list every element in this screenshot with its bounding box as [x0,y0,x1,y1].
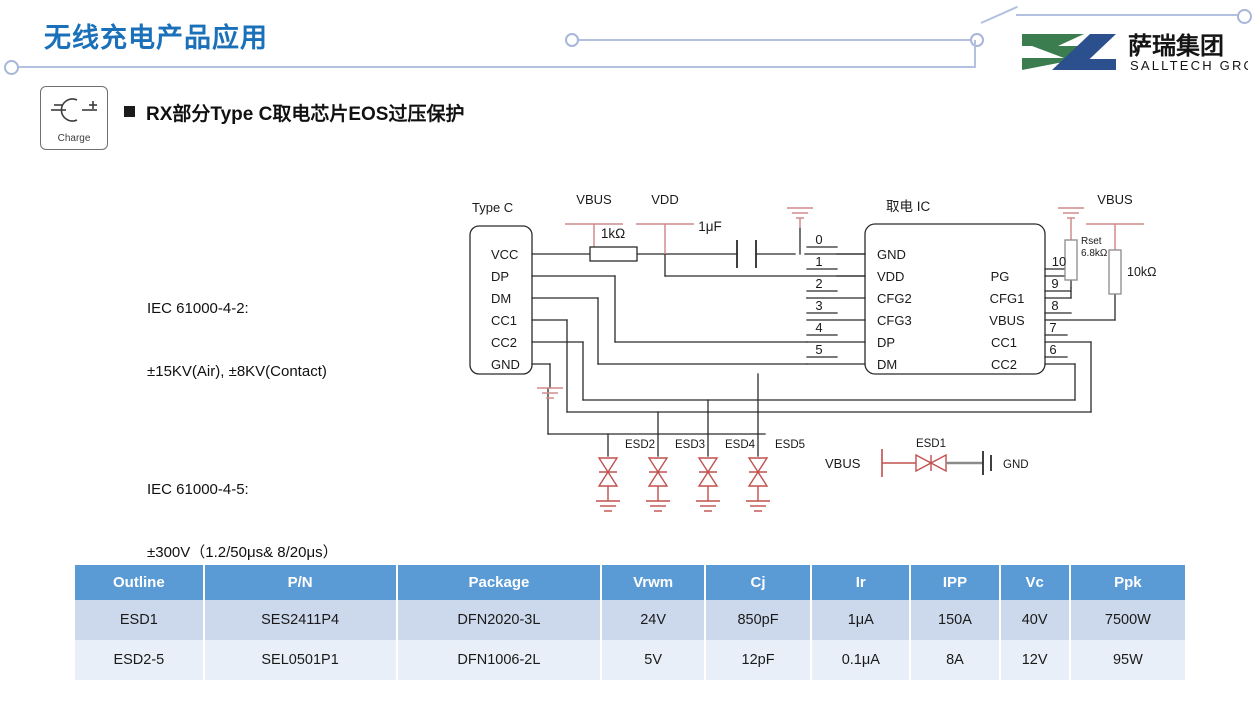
ic-pin-gnd: GND [877,247,906,262]
cell-ppk: 95W [1070,640,1185,680]
pin-number-9: 9 [1051,276,1058,291]
cell-pn: SEL0501P1 [204,640,397,680]
header-deco-node-top-right [1237,9,1252,24]
ic-pin-cfg2: CFG2 [877,291,912,306]
cell-package: DFN2020-3L [397,600,602,640]
schematic-svg: Type C 取电 IC VCC DP DM CC1 CC2 GND GND V… [455,176,1170,521]
connector-pin-vcc: VCC [491,247,518,262]
esd-label-esd3: ESD3 [675,439,705,451]
connector-pin-dm: DM [491,291,511,306]
column-header-vc: Vc [1000,565,1070,600]
ic-pin-cfg3: CFG3 [877,313,912,328]
pin-number-6: 6 [1049,342,1056,357]
iec-spec-block: IEC 61000-4-2: ±15KV(Air), ±8KV(Contact)… [147,256,338,584]
column-header-ir: Ir [811,565,910,600]
cell-package: DFN1006-2L [397,640,602,680]
svg-text:萨瑞集团: 萨瑞集团 [1128,32,1224,60]
value-rset-name: Rset [1081,236,1102,247]
esd-label-esd1: ESD1 [916,438,946,450]
circuit-schematic: Type C 取电 IC VCC DP DM CC1 CC2 GND GND V… [455,176,1170,521]
cell-outline: ESD1 [75,600,204,640]
table-row: ESD2-5 SEL0501P1 DFN1006-2L 5V 12pF 0.1μ… [75,640,1185,680]
header-deco-node-right-mid [970,33,984,47]
esd2-diode [596,458,620,511]
ic-pin-vdd: VDD [877,269,904,284]
cell-ipp: 8A [910,640,999,680]
ic-pin-pg: PG [991,269,1010,284]
pin-number-4: 4 [815,320,822,335]
pin-number-7: 7 [1049,320,1056,335]
connector-pin-gnd: GND [491,357,520,372]
charge-icon-label: Charge [41,133,107,144]
resistor-rset-symbol [1065,240,1077,280]
ic-pin-cfg1: CFG1 [990,291,1025,306]
ic-pin-vbus: VBUS [989,313,1025,328]
pin-number-0: 0 [815,232,822,247]
iec-line-4: ±300V（1.2/50μs& 8/20μs） [147,542,338,563]
net-label-vbus-right: VBUS [1097,192,1133,207]
header-deco-node-mid [565,33,579,47]
pin-number-5: 5 [815,342,822,357]
svg-text:SALLTECH GROUP: SALLTECH GROUP [1130,58,1248,73]
esd-label-esd5: ESD5 [775,439,805,451]
esd1-net-gnd: GND [1003,459,1029,471]
esd4-diode [696,458,720,511]
charge-icon-card: Charge [40,86,108,150]
esd-diode-group [596,458,770,511]
iec-line-1: IEC 61000-4-2: [147,298,338,319]
header-deco-node-left [4,60,19,75]
ic-pin-cc2: CC2 [991,357,1017,372]
esd-label-esd4: ESD4 [725,439,756,451]
company-logo: 萨瑞集团 SALLTECH GROUP [1012,26,1248,74]
section-heading: RX部分Type C取电芯片EOS过压保护 [146,99,464,126]
header-deco-line-lower [14,66,976,68]
ic-pin-dm: DM [877,357,897,372]
header-deco-line-diagonal [981,6,1018,24]
column-header-cj: Cj [705,565,811,600]
pin-number-2: 2 [815,276,822,291]
connector-pin-cc1: CC1 [491,313,517,328]
iec-line-3: IEC 61000-4-5: [147,479,338,500]
ic-pin-cc1: CC1 [991,335,1017,350]
header-deco-line-upper [574,39,979,41]
cell-vc: 40V [1000,600,1070,640]
cell-pn: SES2411P4 [204,600,397,640]
esd1-net-vbus: VBUS [825,456,861,471]
value-resistor-1k: 1kΩ [601,226,625,241]
value-cap-1uf: 1μF [698,219,722,234]
column-header-package: Package [397,565,602,600]
esd1-circuit [882,449,991,477]
value-rset-value: 6.8kΩ [1081,248,1108,259]
column-header-vrwm: Vrwm [601,565,705,600]
table-header-row: Outline P/N Package Vrwm Cj Ir IPP Vc Pp… [75,565,1185,600]
cell-ir: 1μA [811,600,910,640]
header-deco-line-riser [974,40,976,68]
esd-label-esd2: ESD2 [625,439,655,451]
cell-outline: ESD2-5 [75,640,204,680]
column-header-ppk: Ppk [1070,565,1185,600]
ic-pin-dp: DP [877,335,895,350]
pin-number-3: 3 [815,298,822,313]
net-label-vdd: VDD [651,192,678,207]
connector-pin-dp: DP [491,269,509,284]
table-row: ESD1 SES2411P4 DFN2020-3L 24V 850pF 1μA … [75,600,1185,640]
ic-label: 取电 IC [886,199,931,214]
cell-vc: 12V [1000,640,1070,680]
column-header-ipp: IPP [910,565,999,600]
pin-number-10: 10 [1052,254,1066,269]
resistor-10k-symbol [1109,250,1121,294]
cell-ipp: 150A [910,600,999,640]
pin-number-8: 8 [1051,298,1058,313]
esd3-diode [646,458,670,511]
capacitor-1uf-symbol [737,240,756,268]
pin-number-1: 1 [815,254,822,269]
page-title: 无线充电产品应用 [44,16,268,55]
cell-ppk: 7500W [1070,600,1185,640]
iec-line-2: ±15KV(Air), ±8KV(Contact) [147,361,338,382]
bullet-marker [124,106,135,117]
value-resistor-10k: 10kΩ [1127,265,1157,279]
cell-cj: 12pF [705,640,811,680]
ground-symbol-vcc-cap [787,208,813,228]
esd5-diode [746,458,770,511]
ground-symbol-connector [537,388,563,398]
cell-vrwm: 5V [601,640,705,680]
battery-charge-icon [49,97,99,123]
column-header-outline: Outline [75,565,204,600]
header-deco-line-top [1016,14,1238,16]
logo-svg: 萨瑞集团 SALLTECH GROUP [1012,26,1248,74]
cell-cj: 850pF [705,600,811,640]
column-header-pn: P/N [204,565,397,600]
net-label-vbus-left: VBUS [576,192,612,207]
typec-label: Type C [472,200,513,215]
spec-table: Outline P/N Package Vrwm Cj Ir IPP Vc Pp… [75,565,1185,680]
cell-vrwm: 24V [601,600,705,640]
cell-ir: 0.1μA [811,640,910,680]
resistor-1k-symbol [590,247,637,261]
connector-pin-cc2: CC2 [491,335,517,350]
